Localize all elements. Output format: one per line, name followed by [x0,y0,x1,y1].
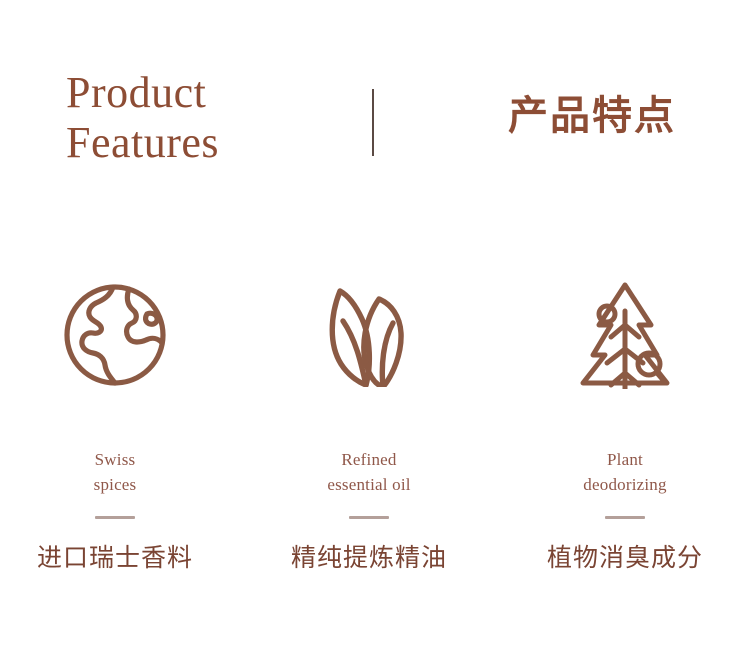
globe-icon [60,275,170,395]
feature-list: Swiss spices 进口瑞士香料 Refined essential oi… [0,275,750,574]
feature-label-english: Swiss spices [94,447,137,497]
title-vertical-divider [372,89,374,156]
feature-item-swiss-spices: Swiss spices 进口瑞士香料 [0,275,240,574]
feature-rule [605,516,645,519]
feature-item-plant-deodorizing: Plant deodorizing 植物消臭成分 [500,275,750,574]
feature-rule [349,516,389,519]
leaves-icon [314,275,424,395]
page-title-english-line1: Product [66,68,206,117]
page-title-english-line2: Features [66,118,356,168]
feature-label-english-line2: deodorizing [583,472,666,497]
page-header: Product Features 产品特点 [0,0,750,230]
feature-rule [95,516,135,519]
feature-label-english-line1: Plant [607,450,643,469]
feature-item-essential-oil: Refined essential oil 精纯提炼精油 [244,275,494,574]
pine-tree-icon [570,275,680,395]
feature-label-english-line2: essential oil [327,472,410,497]
feature-label-chinese: 精纯提炼精油 [291,542,447,574]
feature-label-english: Plant deodorizing [583,447,666,497]
feature-label-english-line2: spices [94,472,137,497]
feature-label-english-line1: Swiss [95,450,136,469]
feature-label-english: Refined essential oil [327,447,410,497]
feature-label-chinese: 植物消臭成分 [547,542,703,574]
feature-label-english-line1: Refined [341,450,396,469]
page-title-english: Product Features [66,68,356,168]
page-title-chinese: 产品特点 [508,92,676,140]
feature-label-chinese: 进口瑞士香料 [37,542,193,574]
